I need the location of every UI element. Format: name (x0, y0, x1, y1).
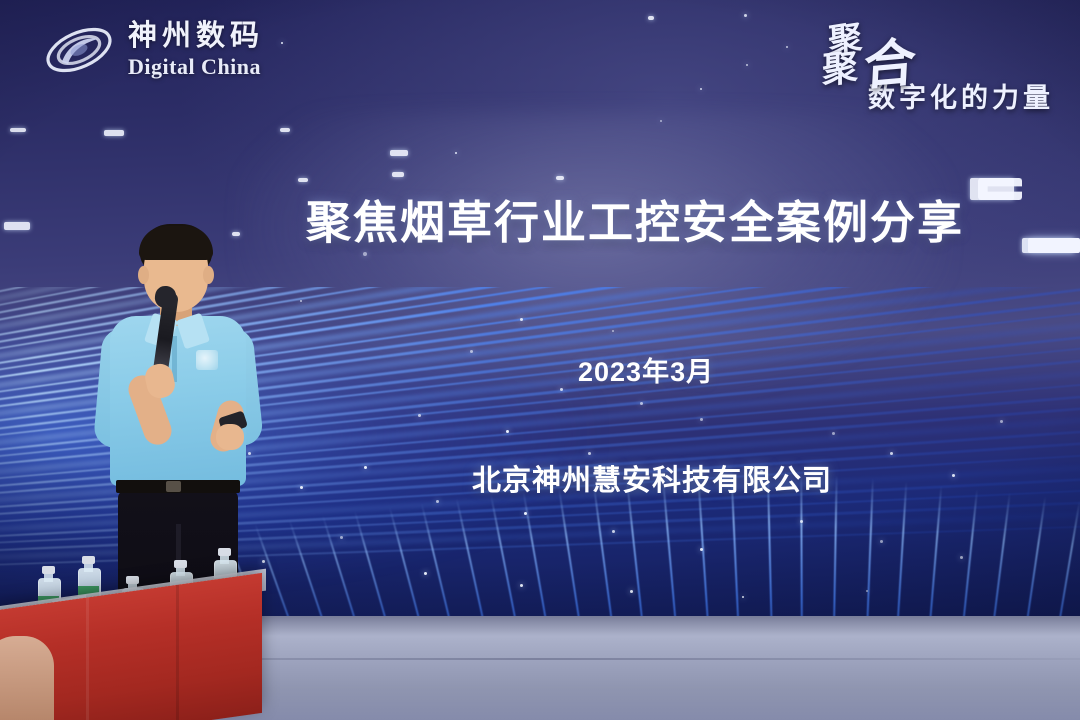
event-char-2: 聚 (822, 38, 858, 95)
speaker-belt-buckle (166, 481, 181, 492)
bottle-cap (126, 576, 139, 584)
slide-title: 聚焦烟草行业工控安全案例分享 (306, 186, 964, 251)
speaker-hair (139, 226, 213, 260)
slide-date: 2023年3月 (578, 350, 714, 389)
slide-company: 北京神州慧安科技有限公司 (472, 457, 832, 499)
bottle-cap (82, 556, 95, 564)
foreground-attendee (0, 636, 54, 720)
table-fold (86, 597, 89, 720)
brand-name-en: Digital China (128, 56, 264, 78)
event-char-3: 合 (862, 19, 918, 99)
brand-name-cn: 神州数码 (128, 22, 264, 51)
speaker-shirt-logo-icon (196, 350, 218, 370)
digital-china-swoosh-logo-icon (42, 22, 116, 78)
screen-edge-bar-icon (1028, 238, 1080, 253)
brand-logo: 神州数码 Digital China (42, 22, 264, 78)
event-logo: 聚 聚 合 数字化的力量 (804, 12, 1054, 115)
speaker-hand-right (216, 424, 244, 450)
bottle-cap (42, 566, 55, 574)
bottle-cap (174, 560, 187, 568)
speaker-ear-right (203, 266, 214, 284)
presentation-photo: 神州数码 Digital China 聚 聚 合 数字化的力量 聚焦烟草行业工控… (0, 0, 1080, 720)
event-logo-calligraphy: 聚 聚 合 (804, 12, 1054, 74)
table-fold (176, 585, 179, 720)
bottle-cap (218, 548, 231, 556)
speaker-ear-left (138, 266, 149, 284)
brand-text: 神州数码 Digital China (128, 22, 264, 78)
